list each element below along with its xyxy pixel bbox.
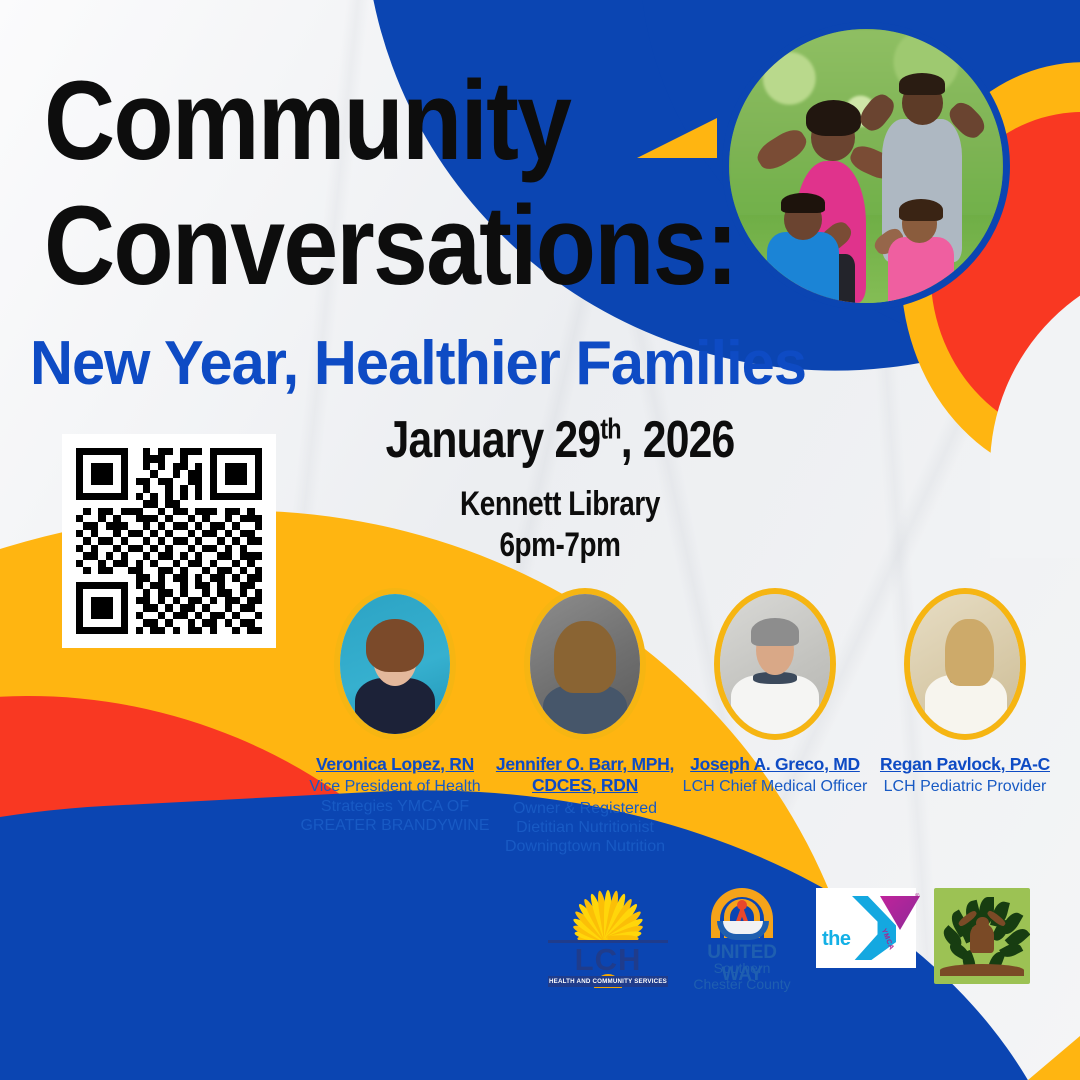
united-way-region-line1: Southern (686, 961, 798, 977)
speaker-name: Jennifer O. Barr, MPH, CDCES, RDN (490, 754, 680, 797)
hero-family-photo (722, 22, 1010, 310)
ymca-the-text: the (822, 928, 851, 951)
qr-code-modules (76, 448, 262, 634)
bottom-right-yellow-corner (1028, 1036, 1080, 1080)
event-date-ordinal: th (600, 414, 621, 446)
speaker-portrait (334, 588, 456, 740)
page-subtitle: New Year, Healthier Families (30, 328, 894, 399)
speaker-card: Veronica Lopez, RN Vice President of Hea… (300, 588, 490, 856)
tree-logo (934, 888, 1030, 984)
event-venue-block: Kennett Library 6pm-7pm (347, 484, 773, 567)
united-way-region-line2: Chester County (686, 977, 798, 993)
lch-logo: LCH HEALTH AND COMMUNITY SERVICES (548, 888, 668, 988)
speaker-role: LCH Chief Medical Officer (680, 777, 870, 796)
top-yellow-wedge (637, 118, 717, 158)
speaker-role: LCH Pediatric Provider (870, 777, 1060, 796)
speaker-list: Veronica Lopez, RN Vice President of Hea… (300, 588, 1080, 856)
tree-figure-head (976, 917, 988, 929)
qr-code[interactable] (62, 434, 276, 648)
registered-mark-icon: ® (915, 894, 919, 900)
speaker-card: Joseph A. Greco, MD LCH Chief Medical Of… (680, 588, 870, 856)
speaker-name: Veronica Lopez, RN (300, 754, 490, 775)
event-date: January 29th, 2026 (347, 410, 773, 470)
event-flyer: Community Conversations: New Year, Healt… (0, 0, 1080, 1080)
right-swoosh-mask (990, 258, 1080, 558)
event-date-year: , 2026 (621, 411, 735, 469)
page-title: Community Conversations: (44, 58, 607, 309)
speaker-portrait (714, 588, 836, 740)
speaker-card: Regan Pavlock, PA-C LCH Pediatric Provid… (870, 588, 1060, 856)
event-time: 6pm-7pm (347, 525, 773, 566)
speaker-card: Jennifer O. Barr, MPH, CDCES, RDN Owner … (490, 588, 680, 856)
ymca-logo: the YMCA ® (816, 888, 916, 968)
lch-wordmark: LCH (548, 944, 668, 975)
event-date-monthday: January 29 (386, 411, 601, 469)
event-details: January 29th, 2026 Kennett Library 6pm-7… (300, 410, 820, 567)
title-line-2: Conversations: (44, 183, 607, 308)
speaker-name: Regan Pavlock, PA-C (870, 754, 1060, 775)
sponsor-logos: LCH HEALTH AND COMMUNITY SERVICES UNITED… (548, 888, 1030, 992)
event-venue: Kennett Library (347, 484, 773, 525)
united-way-logo: UNITED WAY Southern Chester County (686, 888, 798, 992)
speaker-role: Vice President of Health Strategies YMCA… (300, 777, 490, 835)
speaker-name: Joseph A. Greco, MD (680, 754, 870, 775)
lch-tagline: HEALTH AND COMMUNITY SERVICES (548, 976, 668, 987)
tree-ground (940, 964, 1024, 976)
united-way-mark-icon (711, 888, 773, 938)
united-way-region: Southern Chester County (686, 961, 798, 992)
speaker-portrait (904, 588, 1026, 740)
sunburst-icon (552, 888, 664, 940)
speaker-role: Owner & Registered Dietitian Nutritionis… (490, 799, 680, 857)
speaker-portrait (524, 588, 646, 740)
title-line-1: Community (44, 58, 570, 183)
